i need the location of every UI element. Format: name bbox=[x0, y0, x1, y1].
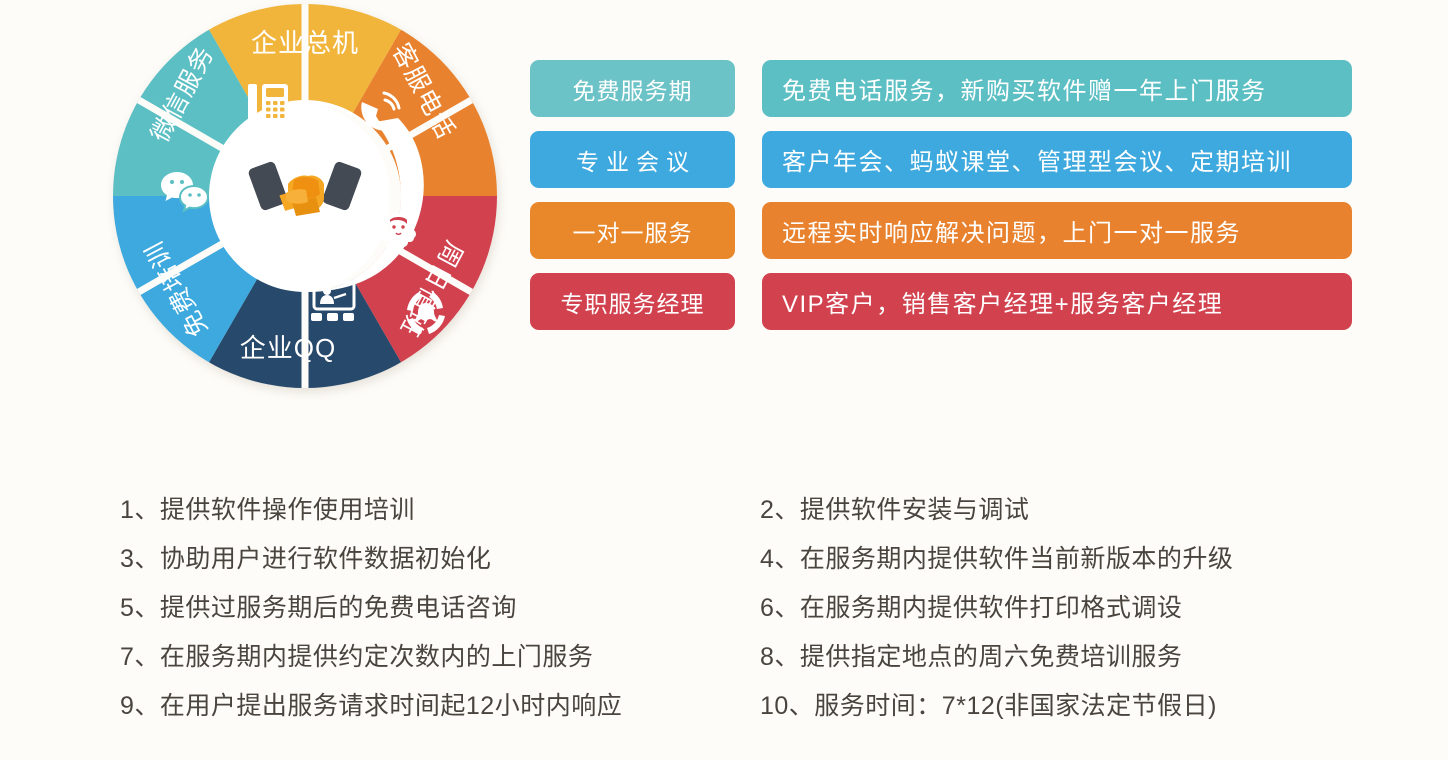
wheel-label-switchboard: 企业总机 bbox=[251, 28, 359, 58]
list-row: 9、在用户提出服务请求时间起12小时内响应 10、服务时间：7*12(非国家法定… bbox=[120, 679, 1360, 728]
list-row: 7、在服务期内提供约定次数内的上门服务 8、提供指定地点的周六免费培训服务 bbox=[120, 630, 1360, 679]
wheel-svg: 企业总机 客服电话 周日值班 企业QQ 免费培训 微信服务 bbox=[100, 0, 520, 400]
list-row: 1、提供软件操作使用培训 2、提供软件安装与调试 bbox=[120, 483, 1360, 532]
list-item: 10、服务时间：7*12(非国家法定节假日) bbox=[760, 686, 1360, 722]
list-item: 9、在用户提出服务请求时间起12小时内响应 bbox=[120, 686, 760, 722]
service-item-list: 1、提供软件操作使用培训 2、提供软件安装与调试 3、协助用户进行软件数据初始化… bbox=[120, 483, 1360, 728]
wheel-segments: 企业总机 客服电话 周日值班 企业QQ 免费培训 微信服务 bbox=[100, 0, 520, 396]
list-row: 3、协助用户进行软件数据初始化 4、在服务期内提供软件当前新版本的升级 bbox=[120, 532, 1360, 581]
panel-desc-professional-meeting[interactable]: 客户年会、蚂蚁课堂、管理型会议、定期培训 bbox=[762, 131, 1352, 188]
panel-label-free-service-period[interactable]: 免费服务期 bbox=[530, 60, 735, 117]
list-item: 6、在服务期内提供软件打印格式调设 bbox=[760, 588, 1360, 624]
list-item: 8、提供指定地点的周六免费培训服务 bbox=[760, 637, 1360, 673]
wheel-label-enterprise-qq: 企业QQ bbox=[240, 333, 336, 363]
list-item: 2、提供软件安装与调试 bbox=[760, 490, 1360, 526]
panel-desc-free-service-period[interactable]: 免费电话服务，新购买软件赠一年上门服务 bbox=[762, 60, 1352, 117]
panel-desc-one-to-one-service[interactable]: 远程实时响应解决问题，上门一对一服务 bbox=[762, 202, 1352, 259]
list-item: 3、协助用户进行软件数据初始化 bbox=[120, 539, 760, 575]
panel-label-dedicated-manager[interactable]: 专职服务经理 bbox=[530, 273, 735, 330]
list-row: 5、提供过服务期后的免费电话咨询 6、在服务期内提供软件打印格式调设 bbox=[120, 581, 1360, 630]
list-item: 1、提供软件操作使用培训 bbox=[120, 490, 760, 526]
panel-row-professional-meeting: 专业会议 客户年会、蚂蚁课堂、管理型会议、定期培训 bbox=[530, 131, 1352, 188]
list-item: 5、提供过服务期后的免费电话咨询 bbox=[120, 588, 760, 624]
panel-label-one-to-one-service[interactable]: 一对一服务 bbox=[530, 202, 735, 259]
desk-phone-icon bbox=[248, 84, 288, 120]
panel-row-dedicated-manager: 专职服务经理 VIP客户，销售客户经理+服务客户经理 bbox=[530, 273, 1352, 330]
service-wheel-diagram: 企业总机 客服电话 周日值班 企业QQ 免费培训 微信服务 bbox=[100, 0, 520, 400]
panel-row-free-service-period: 免费服务期 免费电话服务，新购买软件赠一年上门服务 bbox=[530, 60, 1352, 117]
service-feature-panel: 免费服务期 免费电话服务，新购买软件赠一年上门服务 专业会议 客户年会、蚂蚁课堂… bbox=[530, 60, 1352, 344]
panel-label-professional-meeting[interactable]: 专业会议 bbox=[530, 131, 735, 188]
panel-desc-dedicated-manager[interactable]: VIP客户，销售客户经理+服务客户经理 bbox=[762, 273, 1352, 330]
panel-row-one-to-one-service: 一对一服务 远程实时响应解决问题，上门一对一服务 bbox=[530, 202, 1352, 259]
list-item: 7、在服务期内提供约定次数内的上门服务 bbox=[120, 637, 760, 673]
list-item: 4、在服务期内提供软件当前新版本的升级 bbox=[760, 539, 1360, 575]
